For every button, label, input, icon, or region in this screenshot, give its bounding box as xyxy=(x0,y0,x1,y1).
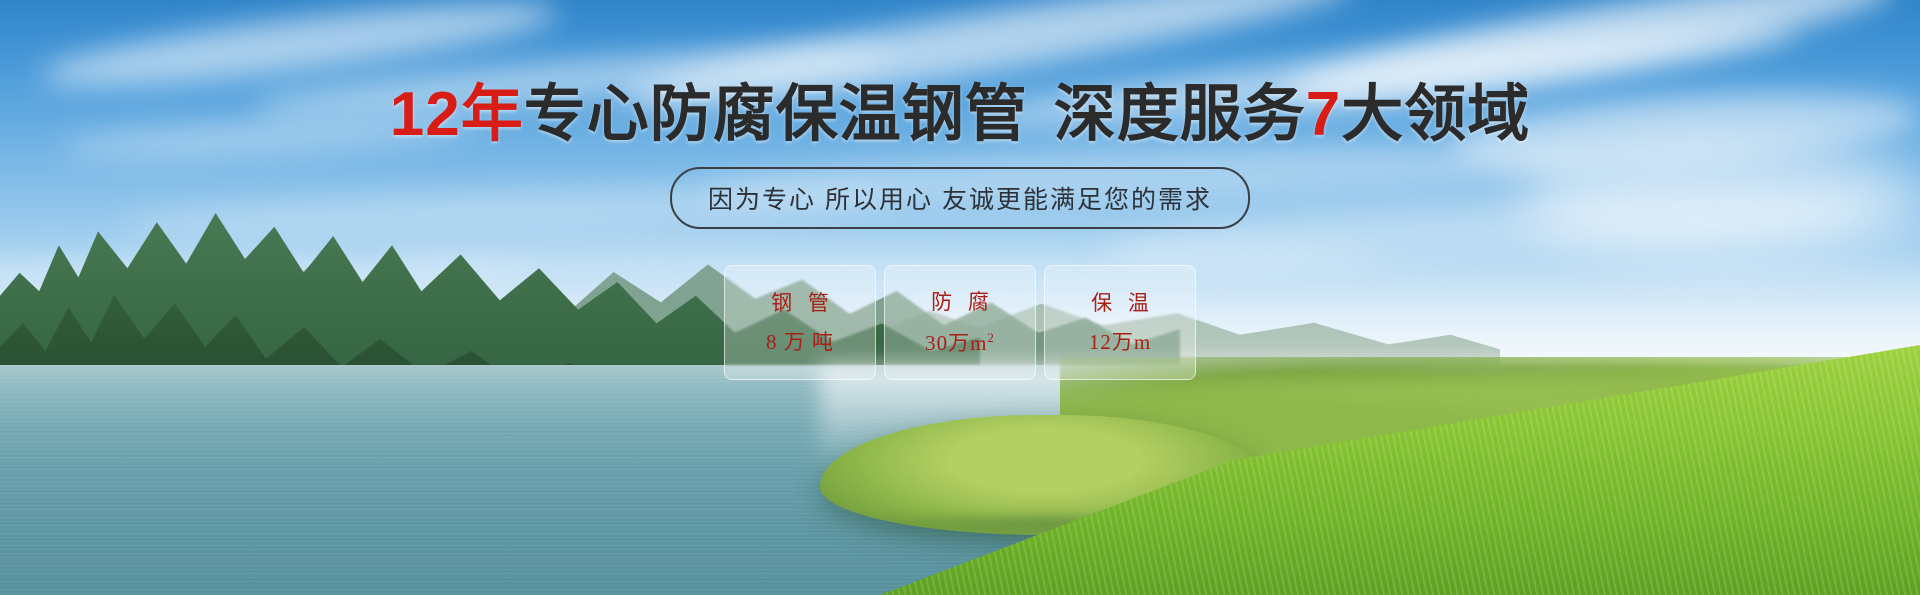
subtitle-pill: 因为专心 所以用心 友诚更能满足您的需求 xyxy=(670,167,1250,229)
headline-service: 深度服务 xyxy=(1054,80,1306,149)
stat-card-value-exponent: 2 xyxy=(987,330,995,345)
stat-card-value-text: 30万m xyxy=(925,331,987,355)
headline-fields: 大领域 xyxy=(1341,80,1530,149)
stat-card-steel-pipe[interactable]: 钢 管 8 万 吨 xyxy=(724,265,876,380)
headline-main: 专心防腐保温钢管 xyxy=(524,80,1028,149)
banner-content: 12年专心防腐保温钢管深度服务7大领域 因为专心 所以用心 友诚更能满足您的需求… xyxy=(0,0,1920,595)
stat-card-value: 8 万 吨 xyxy=(766,332,834,353)
stat-card-group: 钢 管 8 万 吨 防 腐 30万m2 保 温 12万m xyxy=(724,265,1196,380)
stat-card-title: 钢 管 xyxy=(766,293,834,314)
headline-years: 12年 xyxy=(390,80,524,149)
stat-card-title: 保 温 xyxy=(1086,293,1154,314)
stat-card-value-text: 12万m xyxy=(1089,330,1151,354)
stat-card-value: 30万m2 xyxy=(925,331,995,354)
stat-card-anticorrosion[interactable]: 防 腐 30万m2 xyxy=(884,265,1036,380)
stat-card-value: 12万m xyxy=(1089,332,1151,353)
stat-card-insulation[interactable]: 保 温 12万m xyxy=(1044,265,1196,380)
headline: 12年专心防腐保温钢管深度服务7大领域 xyxy=(0,84,1920,146)
stat-card-title: 防 腐 xyxy=(926,292,994,313)
hero-banner: 12年专心防腐保温钢管深度服务7大领域 因为专心 所以用心 友诚更能满足您的需求… xyxy=(0,0,1920,595)
stat-card-value-text: 8 万 吨 xyxy=(766,330,834,354)
headline-number: 7 xyxy=(1306,80,1341,149)
